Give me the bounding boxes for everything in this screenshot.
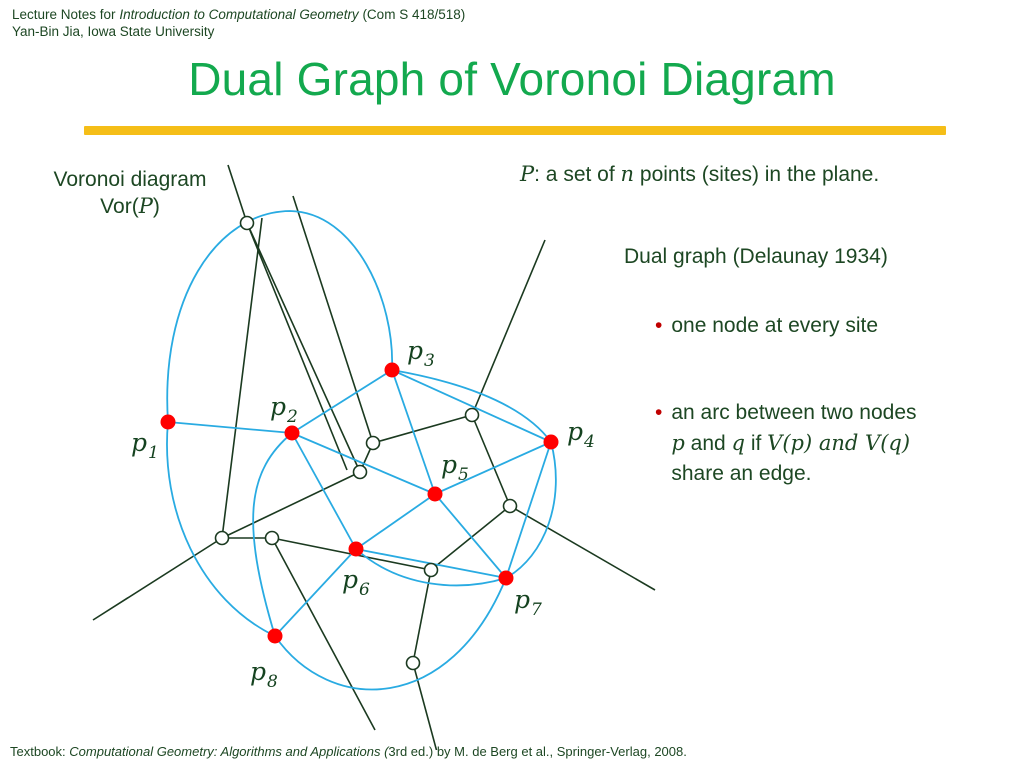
site-label-p3: p3 bbox=[407, 336, 435, 371]
header-line1-pre: Lecture Notes for bbox=[12, 7, 119, 22]
delaunay-arc bbox=[275, 578, 506, 689]
site-label-p5: p5 bbox=[441, 450, 469, 485]
voronoi-rays-layer bbox=[93, 165, 655, 750]
page-title: Dual Graph of Voronoi Diagram bbox=[0, 52, 1024, 106]
delaunay-edge bbox=[392, 370, 435, 494]
textbook-footer: Textbook: Computational Geometry: Algori… bbox=[10, 744, 687, 759]
footer-pre: Textbook: bbox=[10, 744, 69, 759]
lecture-header: Lecture Notes for Introduction to Comput… bbox=[12, 6, 712, 40]
header-line1-course-title: Introduction to Computational Geometry bbox=[119, 7, 358, 22]
header-line-2: Yan-Bin Jia, Iowa State University bbox=[12, 23, 712, 40]
math-q: q bbox=[732, 431, 745, 455]
delaunay-arc bbox=[167, 422, 275, 636]
voronoi-ray bbox=[93, 538, 222, 620]
voronoi-ray bbox=[510, 506, 655, 590]
delaunay-edge bbox=[292, 370, 392, 433]
math-V-2: V bbox=[865, 431, 880, 455]
voronoi-ray bbox=[293, 196, 373, 443]
voronoi-vertex bbox=[367, 437, 380, 450]
paren-close-and: ) and bbox=[804, 431, 865, 455]
title-underline-rule bbox=[84, 126, 946, 135]
site-point-p7 bbox=[499, 571, 514, 586]
site-point-p1 bbox=[161, 415, 176, 430]
header-line-1: Lecture Notes for Introduction to Comput… bbox=[12, 6, 712, 23]
bullet-2-line-1: an arc between two nodes bbox=[671, 398, 916, 428]
site-point-p8 bbox=[268, 629, 283, 644]
bullet-1-text: one node at every site bbox=[671, 311, 878, 341]
paren-open-1: ( bbox=[782, 431, 790, 455]
voronoi-vertex bbox=[216, 532, 229, 545]
voronoi-edge bbox=[431, 506, 510, 570]
site-point-p4 bbox=[544, 435, 559, 450]
footer-post: 3rd ed.) by M. de Berg et al., Springer-… bbox=[388, 744, 686, 759]
site-point-p3 bbox=[385, 363, 400, 378]
site-label-p4: p4 bbox=[567, 417, 595, 452]
delaunay-arcs-layer bbox=[167, 211, 556, 689]
voronoi-edge bbox=[472, 415, 510, 506]
paren-close-2: ) bbox=[902, 431, 910, 455]
math-p-2: p bbox=[791, 431, 804, 455]
bullet-2-line-2: p and q if V(p) and V(q) bbox=[671, 428, 916, 459]
voronoi-ray bbox=[272, 538, 375, 730]
site-label-p2: p2 bbox=[270, 392, 298, 427]
delaunay-edge bbox=[292, 433, 435, 494]
voronoi-vertex bbox=[407, 657, 420, 670]
voronoi-vertex bbox=[266, 532, 279, 545]
math-V-1: V bbox=[767, 431, 782, 455]
voronoi-edge bbox=[222, 472, 360, 538]
site-point-p2 bbox=[285, 426, 300, 441]
bullet-2-line-3: share an edge. bbox=[671, 459, 916, 489]
voronoi-vertices-layer bbox=[216, 217, 517, 670]
site-point-p5 bbox=[428, 487, 443, 502]
footer-book-title: Computational Geometry: Algorithms and A… bbox=[69, 744, 388, 759]
voronoi-edge bbox=[247, 223, 360, 472]
math-q-2: q bbox=[888, 431, 901, 455]
voronoi-ray bbox=[228, 165, 247, 223]
delaunay-edge bbox=[356, 494, 435, 549]
header-line1-post: (Com S 418/518) bbox=[359, 7, 466, 22]
site-label-p1: p1 bbox=[131, 428, 159, 463]
delaunay-edge bbox=[435, 494, 506, 578]
voronoi-delaunay-diagram: p1p2p3p4p5p6p7p8 bbox=[0, 150, 700, 750]
site-points-layer bbox=[161, 363, 559, 644]
site-point-p6 bbox=[349, 542, 364, 557]
voronoi-edge bbox=[373, 415, 472, 443]
voronoi-ray bbox=[472, 240, 545, 415]
delaunay-edge bbox=[168, 422, 292, 433]
site-label-p8: p8 bbox=[250, 657, 278, 692]
voronoi-vertex bbox=[425, 564, 438, 577]
voronoi-vertex bbox=[354, 466, 367, 479]
voronoi-vertex bbox=[466, 409, 479, 422]
site-label-p7: p7 bbox=[514, 585, 542, 620]
site-label-p6: p6 bbox=[342, 565, 370, 600]
delaunay-edge bbox=[292, 433, 356, 549]
txt-if: if bbox=[745, 432, 767, 455]
bullet-2-row: • an arc between two nodes p and q if V(… bbox=[655, 398, 1024, 489]
voronoi-vertex bbox=[504, 500, 517, 513]
bullet-2-body: an arc between two nodes p and q if V(p)… bbox=[671, 398, 916, 489]
voronoi-vertex bbox=[241, 217, 254, 230]
bullet-item-2: • an arc between two nodes p and q if V(… bbox=[655, 398, 1024, 489]
